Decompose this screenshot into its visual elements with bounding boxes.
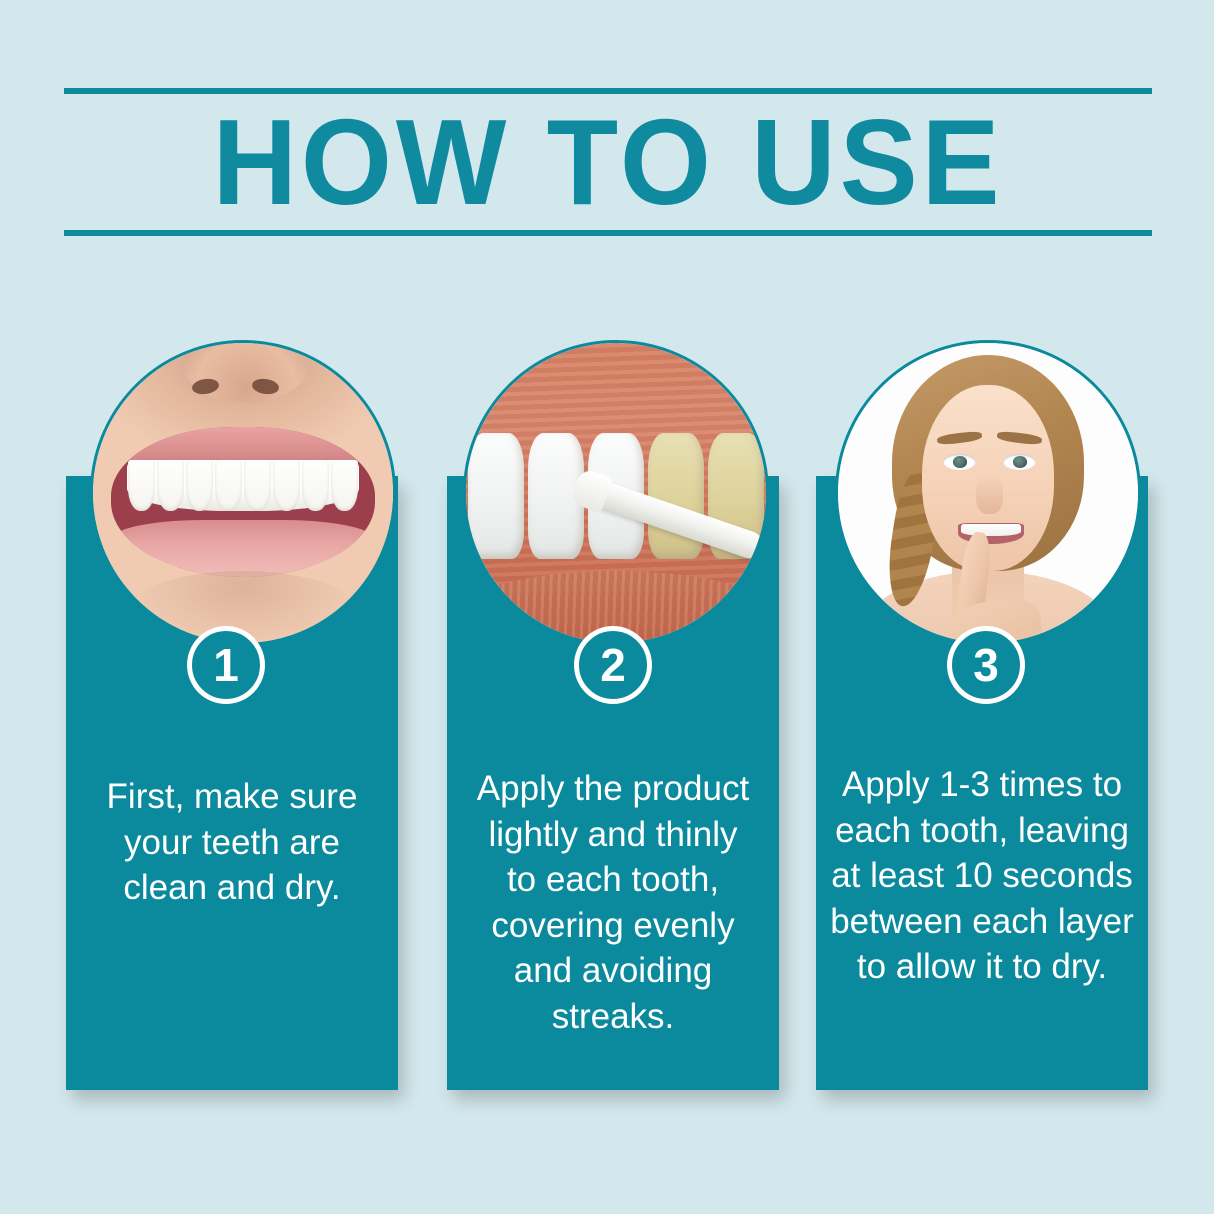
infographic-poster: HOW TO USE 1 First, make sure your xyxy=(0,0,1214,1214)
step-2-photo xyxy=(463,340,769,646)
step-1-caption: First, make sure your teeth are clean an… xyxy=(76,774,388,911)
smiling-mouth-closeup-photo xyxy=(93,343,393,643)
step-2-number-badge: 2 xyxy=(574,626,652,704)
step-2-caption: Apply the product lightly and thinly to … xyxy=(455,766,771,1039)
step-1-number-badge: 1 xyxy=(187,626,265,704)
teeth-applicator-brush-photo xyxy=(466,343,766,643)
step-3-caption: Apply 1-3 times to each tooth, leaving a… xyxy=(822,762,1142,990)
step-3-photo xyxy=(835,340,1141,646)
step-3-number-badge: 3 xyxy=(947,626,1025,704)
woman-pointing-at-smile-photo xyxy=(838,343,1138,643)
steps-container: 1 First, make sure your teeth are clean … xyxy=(0,0,1214,1214)
step-1-photo xyxy=(90,340,396,646)
